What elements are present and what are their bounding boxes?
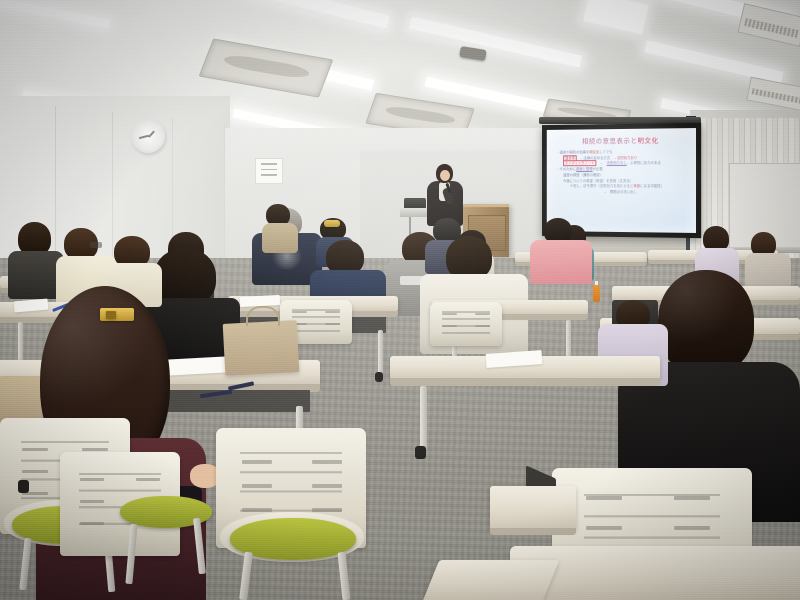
tote-bag (223, 320, 300, 376)
wall-clock-icon (131, 119, 165, 153)
chair-slot (325, 323, 340, 325)
slide-text-segment: エンディングノート (563, 161, 596, 167)
chair-slot (586, 496, 622, 500)
slide-line: 遺産の調査（通帳の確認） (553, 173, 690, 178)
chair-slot (475, 325, 490, 327)
chair-slot (442, 325, 457, 327)
chair-slot (312, 460, 342, 464)
chair-slot (22, 470, 48, 473)
chair-slot (674, 496, 710, 500)
slide-line: ・そのために調査と整理が必要 (553, 167, 690, 173)
chair-slot (674, 526, 710, 530)
chair-slot (242, 484, 272, 488)
chair-slot (325, 311, 340, 313)
chair-slot (475, 313, 490, 315)
slide-title-highlight: 明文化 (637, 138, 658, 145)
slide-text-segment: 、心情的に効力のある (627, 161, 661, 165)
wall-seam (112, 112, 113, 277)
slide-text-segment: 法的効力なし (607, 161, 627, 165)
lecture-hall-photo: 相続の意思表示と明文化 ・遺言や契約の効果を明文化してでも遺言書 …法律の定める… (0, 0, 800, 600)
chair-caster (18, 480, 29, 493)
slide-text-segment: ※但し、法令遵守（法的効力を持たせると (570, 184, 633, 188)
eyeglasses (90, 242, 102, 248)
desk-edge (490, 528, 576, 535)
slide-title: 相続の意思表示と明文化 (553, 135, 690, 145)
chair-slot (442, 313, 457, 315)
desk (490, 486, 576, 530)
slide-text-segment: → 問題点の洗い出し (603, 190, 637, 194)
chair-slot (80, 500, 104, 503)
slide-text-segment: 調査と整理 (576, 167, 593, 171)
chair-slot (80, 522, 104, 525)
presenter (424, 164, 468, 226)
slide-text-segment: ・遺言や契約の効果を (556, 150, 589, 154)
chair (430, 302, 502, 346)
desk-leg (378, 330, 383, 374)
chair-slot (586, 526, 622, 530)
torso (262, 223, 298, 253)
chair-slot (82, 448, 108, 451)
chair-slot (312, 484, 342, 488)
hair-clip-detail (106, 311, 116, 319)
drink-bottle (593, 285, 600, 302)
slide-text-segment: 法的効力あり (617, 156, 637, 160)
slide-title-plain: 相続の意思表示と (582, 138, 637, 146)
slide-text-segment: 今後についての希望（希望）を表明（文書化） (563, 179, 633, 183)
desk-leg (420, 386, 427, 450)
slide-body: ・遺言や契約の効果を明文化してでも遺言書 …法律の定める方式 →法的効力ありエン… (553, 149, 690, 195)
chair-backrest (430, 302, 502, 346)
slide-text-segment: になる可能性） (640, 184, 664, 188)
chair-slot (292, 311, 307, 313)
handout-paper (168, 356, 227, 375)
chair-slot (312, 508, 342, 512)
slide-text-segment: 明文化 (589, 150, 599, 154)
presenter-face (440, 170, 450, 181)
chair-slot (136, 478, 160, 481)
wall-notice (255, 158, 283, 184)
slide-text-segment: 遺産の調査（通帳の確認） (563, 173, 603, 177)
chair-slot (80, 478, 104, 481)
slide-text-segment: …法律の定める方式 → (577, 156, 617, 160)
slide-line: ※但し、法令遵守（法的効力を持たせると争族になる可能性） (553, 184, 690, 189)
desk-caster (415, 446, 426, 459)
desk (421, 560, 560, 600)
chair-slot (22, 448, 48, 451)
hair-accessory (324, 220, 340, 227)
desk-caster (375, 372, 383, 382)
desk-edge (390, 378, 660, 386)
slide-text-segment: してでも (599, 150, 612, 154)
slide-content: 相続の意思表示と明文化 ・遺言や契約の効果を明文化してでも遺言書 …法律の定める… (547, 128, 696, 233)
chair-slot (242, 460, 272, 464)
slide-line: → 問題点の洗い出し (553, 190, 690, 196)
slide-text-segment: が必要 (593, 167, 603, 171)
slide-text-segment: ・そのために (556, 167, 576, 171)
tote-handle (246, 306, 280, 326)
chair-slot (242, 508, 272, 512)
slide-text-segment: → (596, 161, 606, 165)
torso (530, 240, 592, 284)
head (658, 270, 754, 374)
